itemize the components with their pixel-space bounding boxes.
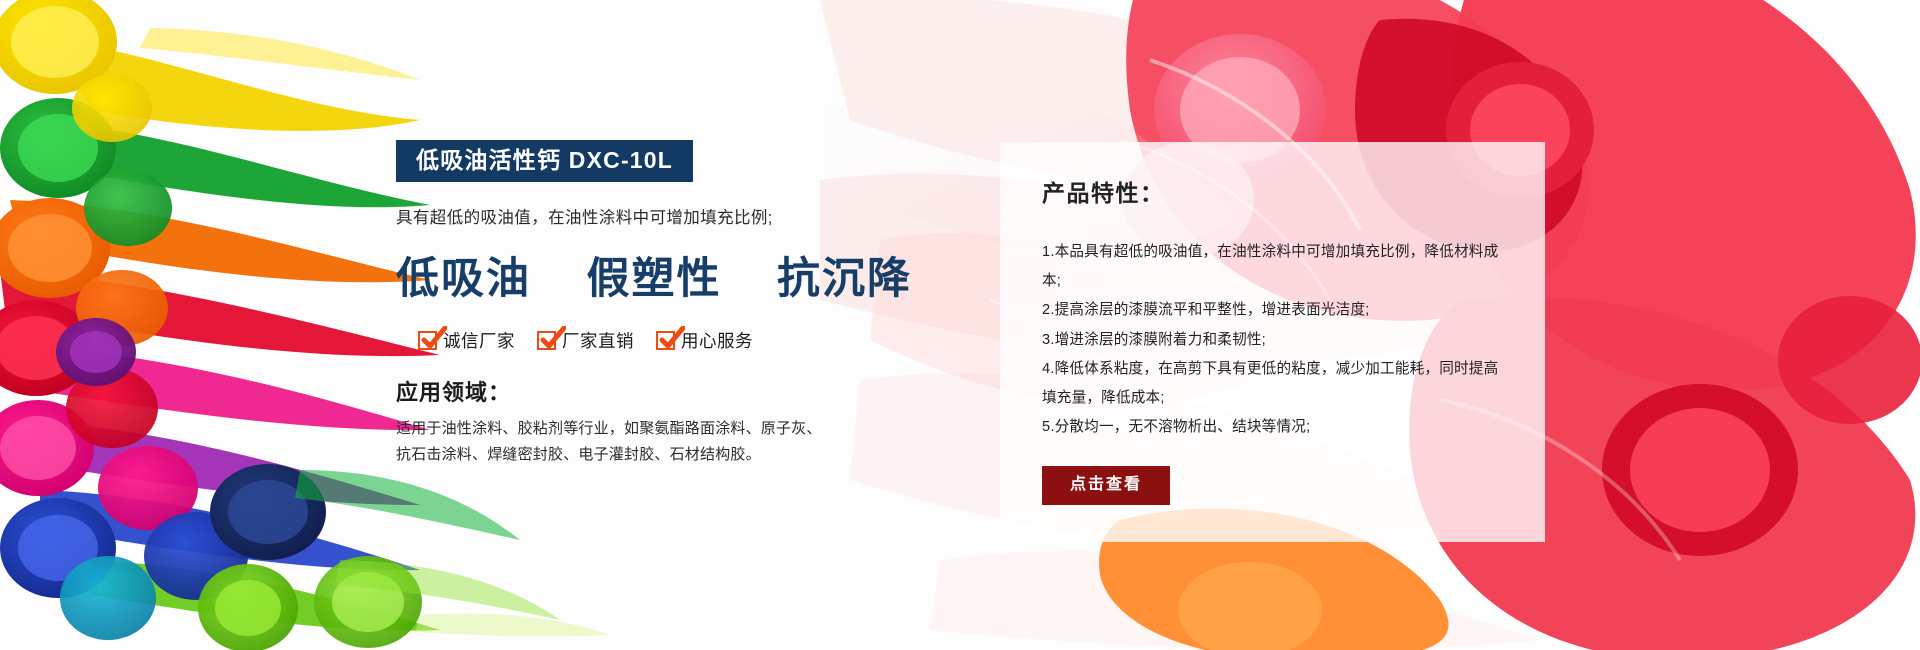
headline-part-2: 假塑性 xyxy=(587,256,722,303)
features-panel-heading: 产品特性： xyxy=(1042,174,1505,208)
checkbox-checked-icon xyxy=(537,331,556,350)
application-body: 适用于油性涂料、胶粘剂等行业，如聚氨酯路面涂料、原子灰、抗石击涂料、焊缝密封胶、… xyxy=(396,416,836,468)
trust-badge-label: 用心服务 xyxy=(681,328,753,353)
checkbox-checked-icon xyxy=(656,331,675,350)
features-list: 1.本品具有超低的吸油值，在油性涂料中可增加填充比例，降低材料成本; 2.提高涂… xyxy=(1042,238,1505,442)
trust-badge-label: 厂家直销 xyxy=(562,328,634,353)
trust-badge-label: 诚信厂家 xyxy=(443,328,515,353)
trust-badges-row: 诚信厂家 厂家直销 用心服务 xyxy=(418,328,916,353)
product-subtitle: 具有超低的吸油值，在油性涂料中可增加填充比例; xyxy=(396,204,916,228)
headline-part-3: 抗沉降 xyxy=(777,256,912,303)
feature-item: 2.提高涂层的漆膜流平和平整性，增进表面光洁度; xyxy=(1042,296,1505,325)
headline-part-1: 低吸油 xyxy=(396,256,531,303)
feature-item: 5.分散均一，无不溶物析出、结块等情况; xyxy=(1042,413,1505,442)
feature-item: 1.本品具有超低的吸油值，在油性涂料中可增加填充比例，降低材料成本; xyxy=(1042,238,1505,296)
feature-item: 4.降低体系粘度，在高剪下具有更低的粘度，减少加工能耗，同时提高填充量，降低成本… xyxy=(1042,355,1505,413)
features-panel: 产品特性： 1.本品具有超低的吸油值，在油性涂料中可增加填充比例，降低材料成本;… xyxy=(1000,142,1545,542)
view-details-button[interactable]: 点击查看 xyxy=(1042,466,1170,505)
trust-badge-3: 用心服务 xyxy=(656,328,753,353)
left-content-column: 低吸油活性钙 DXC-10L 具有超低的吸油值，在油性涂料中可增加填充比例; 低… xyxy=(396,140,916,468)
trust-badge-1: 诚信厂家 xyxy=(418,328,515,353)
headline: 低吸油 假塑性 抗沉降 xyxy=(396,244,916,306)
product-banner: 低吸油活性钙 DXC-10L 具有超低的吸油值，在油性涂料中可增加填充比例; 低… xyxy=(0,0,1920,650)
checkbox-checked-icon xyxy=(418,331,437,350)
trust-badge-2: 厂家直销 xyxy=(537,328,634,353)
application-heading: 应用领域： xyxy=(396,375,916,407)
feature-item: 3.增进涂层的漆膜附着力和柔韧性; xyxy=(1042,326,1505,355)
product-tag-badge: 低吸油活性钙 DXC-10L xyxy=(396,140,693,182)
